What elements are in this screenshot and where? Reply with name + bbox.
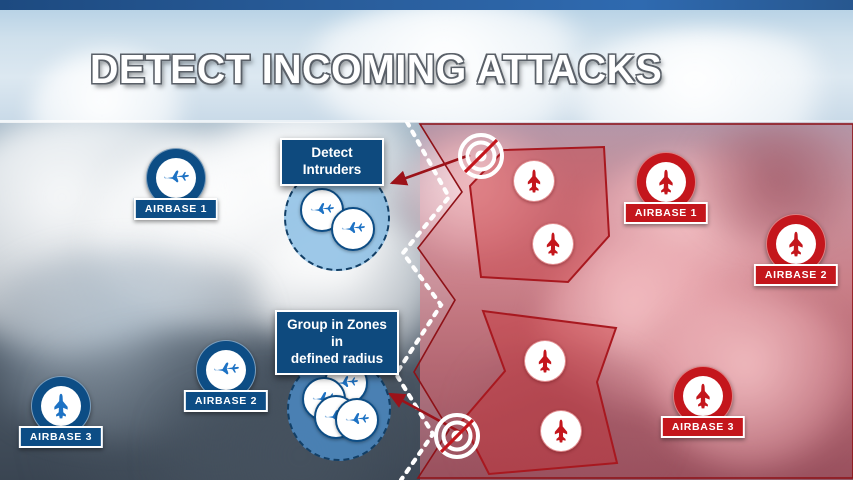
enemy-airbase-3[interactable]: AIRBASE 3 — [673, 366, 733, 426]
jet-front-icon — [532, 348, 558, 374]
jet-front-icon — [521, 168, 547, 194]
callout-line-1: Group in Zones in — [287, 317, 387, 351]
jet-side-icon — [309, 197, 335, 223]
jet-front-icon — [548, 418, 574, 444]
airbase-label: AIRBASE 1 — [134, 198, 218, 220]
friendly-airbase-2[interactable]: AIRBASE 2 — [196, 340, 256, 400]
top-accent-bar — [0, 0, 853, 10]
airbase-icon-disc — [776, 224, 816, 264]
enemy-jet-marker[interactable] — [532, 223, 574, 265]
slide-canvas: DETECT INCOMING ATTACKS — [0, 0, 853, 480]
enemy-jet-marker[interactable] — [540, 410, 582, 452]
enemy-airbase-2[interactable]: AIRBASE 2 — [766, 214, 826, 274]
header-divider — [0, 120, 853, 123]
airbase-label: AIRBASE 1 — [624, 202, 708, 224]
jet-side-icon — [162, 164, 190, 192]
jet-side-icon — [212, 356, 240, 384]
airbase-icon-disc — [41, 386, 81, 426]
jet-front-icon — [540, 231, 566, 257]
callout-group-in-zones[interactable]: Group in Zones in defined radius — [275, 310, 399, 375]
enemy-jet-marker[interactable] — [513, 160, 555, 202]
airbase-icon-disc — [206, 350, 246, 390]
callout-detect-intruders[interactable]: Detect Intruders — [280, 138, 384, 186]
callout-line-1: Detect — [292, 145, 372, 162]
radar-target-icon[interactable] — [433, 412, 481, 460]
jet-front-icon — [689, 382, 717, 410]
enemy-jet-marker[interactable] — [524, 340, 566, 382]
jet-front-icon — [782, 230, 810, 258]
friendly-jet-marker[interactable] — [331, 207, 375, 251]
friendly-airbase-3[interactable]: AIRBASE 3 — [31, 376, 91, 436]
airbase-icon-disc — [156, 158, 196, 198]
airbase-label: AIRBASE 3 — [661, 416, 745, 438]
callout-line-2: defined radius — [287, 351, 387, 368]
enemy-airbase-1[interactable]: AIRBASE 1 — [636, 152, 696, 212]
jet-front-icon — [47, 392, 75, 420]
callout-line-2: Intruders — [292, 162, 372, 179]
page-title: DETECT INCOMING ATTACKS — [90, 46, 662, 93]
jet-side-icon — [340, 216, 366, 242]
friendly-airbase-1[interactable]: AIRBASE 1 — [146, 148, 206, 208]
radar-target-icon[interactable] — [457, 132, 505, 180]
airbase-label: AIRBASE 2 — [184, 390, 268, 412]
jet-side-icon — [344, 407, 370, 433]
airbase-icon-disc — [646, 162, 686, 202]
airbase-icon-disc — [683, 376, 723, 416]
friendly-jet-marker[interactable] — [335, 398, 379, 442]
jet-front-icon — [652, 168, 680, 196]
airbase-label: AIRBASE 2 — [754, 264, 838, 286]
airbase-label: AIRBASE 3 — [19, 426, 103, 448]
